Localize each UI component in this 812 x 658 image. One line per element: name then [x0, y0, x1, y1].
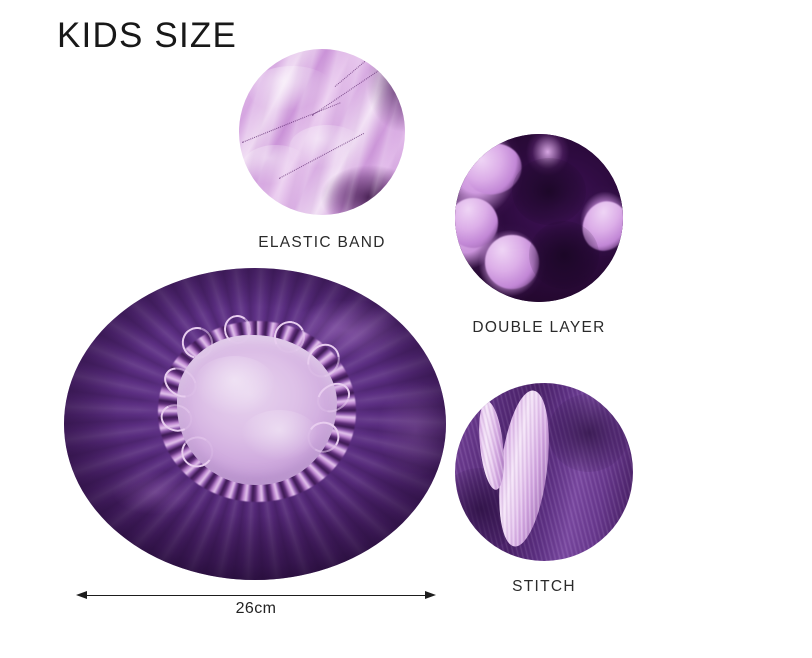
arrowhead-right-icon: [425, 591, 436, 599]
detail-label-double-layer: DOUBLE LAYER: [455, 319, 623, 337]
detail-image-elastic-band: [239, 49, 405, 215]
detail-image-double-layer: [455, 134, 623, 302]
detail-label-stitch: STITCH: [455, 578, 633, 596]
seam-shadow: [548, 394, 630, 472]
product-image-bonnet: [64, 268, 446, 580]
lining-fold: [193, 356, 276, 416]
dark-satin-shadow: [512, 158, 586, 225]
dimension-value: 26cm: [76, 600, 436, 618]
detail-label-elastic-band: ELASTIC BAND: [239, 234, 405, 252]
detail-image-stitch: [455, 383, 633, 561]
dimension-line: [83, 595, 429, 596]
dark-satin-shadow: [529, 221, 600, 288]
infographic-canvas: KIDS SIZE ELASTIC BAND DOUBLE LAYER: [0, 0, 812, 658]
page-title: KIDS SIZE: [57, 18, 237, 53]
